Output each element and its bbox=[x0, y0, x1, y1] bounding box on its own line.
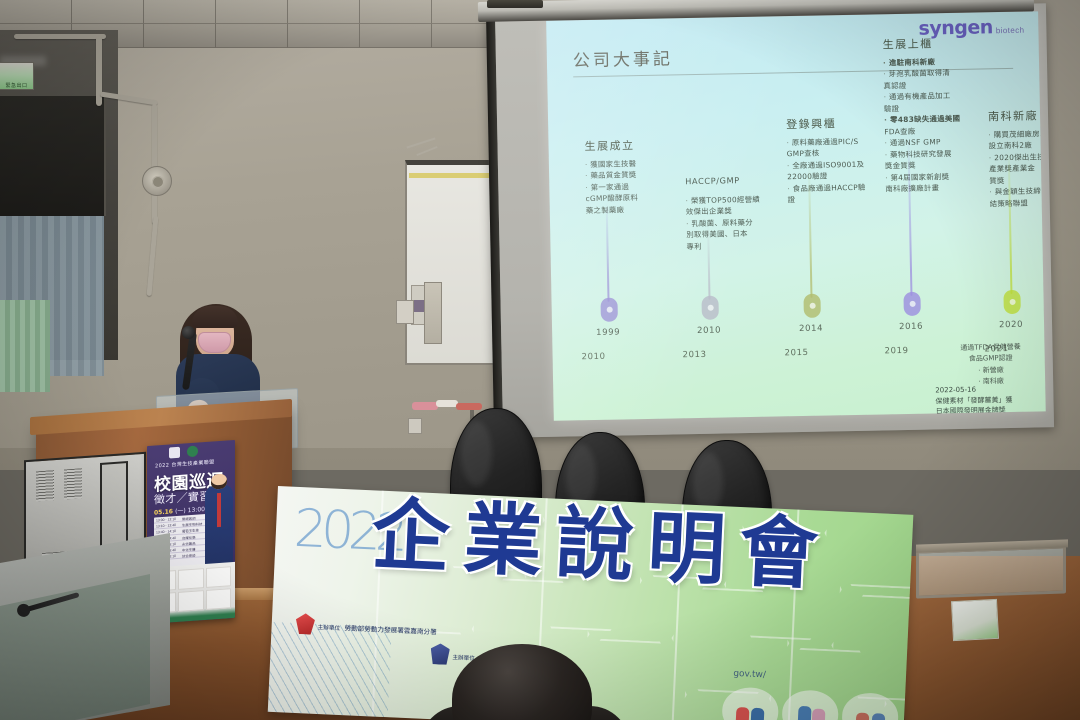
projected-slide: syngenbiotech 公司大事記 生展成立 獲國家生技醫 藥品質金質獎 第… bbox=[546, 11, 1046, 420]
timeline-year-bottom: 2010 bbox=[582, 352, 606, 362]
bullet: 專利 bbox=[686, 239, 761, 252]
timeline-column-1: 生展成立 獲國家生技醫 藥品質金質獎 第一家通過 cGMP醱酵原料 藥之製藥廠 bbox=[584, 137, 638, 216]
timeline-year-top: 2010 bbox=[697, 326, 721, 336]
bullet: 乳酸菌、原料藥分 bbox=[686, 216, 761, 229]
slide-title: 公司大事記 bbox=[573, 44, 673, 71]
bullet: 結策略聯盟 bbox=[990, 197, 1046, 210]
bullet: 與金穎生技締 bbox=[989, 186, 1045, 199]
slide-footer: 2022-05-16 保健素材「發酵薑黃」獲 日本國際發明展金牌獎 bbox=[935, 384, 1013, 417]
bullet: 食品廠通過HACCP驗 bbox=[787, 182, 865, 195]
presenter-fringe bbox=[192, 306, 238, 328]
face-mask bbox=[198, 332, 231, 353]
banner-url: gov.tw/ bbox=[733, 669, 766, 680]
timeline-year-top: 1999 bbox=[596, 327, 620, 337]
event-banner: 2022 企業說明會 主辦單位 勞動部勞動力發展署雲嘉南分署 主辦單位 中華醫事… bbox=[268, 486, 914, 720]
timeline-marker bbox=[903, 292, 920, 316]
ceiling-tile bbox=[72, 0, 144, 24]
bullet: 2020傑出生技 bbox=[989, 151, 1046, 164]
timeline-stem bbox=[606, 202, 610, 302]
timeline-column-4: 生展上櫃 進駐南科新廠 芽孢乳酸菌取得清 真認證 通過有機產品加工 驗證 零48… bbox=[883, 35, 962, 195]
bullet: 南科廠擴廠計畫 bbox=[885, 182, 961, 195]
wall-switch-plate[interactable] bbox=[396, 300, 414, 324]
timeline-marker bbox=[1003, 290, 1020, 314]
syngen-logo-sub: biotech bbox=[996, 26, 1025, 36]
bullet: 通過有機產品加工 bbox=[884, 90, 960, 103]
timeline-marker bbox=[600, 298, 617, 322]
photo-scene: 緊急出口 syngenbiotech 公司大事記 bbox=[0, 0, 1080, 720]
illustration-bubble bbox=[781, 689, 839, 720]
bullet: 證 bbox=[788, 193, 866, 206]
column-bullets: HACCP/GMP 榮獲TOP500經營績 效傑出企業獎 乳酸菌、原料藥分 別取… bbox=[685, 174, 761, 252]
column-heading: 生展成立 bbox=[584, 137, 637, 154]
bullet: 芽孢乳酸菌取得清 bbox=[883, 67, 959, 80]
timeline-column-5: 南科新廠 購買茂細廠房、 設立南科2廠 2020傑出生技 產業獎產業金 質獎 與… bbox=[988, 107, 1046, 209]
ceiling-tile bbox=[360, 0, 432, 24]
curtain-green-panel bbox=[0, 300, 50, 392]
ceiling-tile bbox=[360, 24, 432, 48]
column-heading: 南科新廠 bbox=[988, 107, 1046, 124]
illustration-bubble bbox=[841, 692, 899, 720]
timeline-marker bbox=[803, 294, 820, 318]
exit-sign-label: 緊急出口 bbox=[5, 82, 27, 89]
bullet: 購買茂細廠房、 bbox=[988, 128, 1045, 141]
bullet: 榮獲TOP500經營績 bbox=[686, 193, 761, 206]
bullet: 藥品質金質獎 bbox=[585, 170, 638, 182]
column-bullets: 進駐南科新廠 芽孢乳酸菌取得清 真認證 通過有機產品加工 驗證 零483缺失通過… bbox=[883, 56, 962, 195]
wall-fan-icon bbox=[142, 166, 172, 196]
bullet: 原料藥廠通過PIC/S bbox=[786, 136, 864, 149]
bullet: 藥物科技研究發展 bbox=[885, 148, 961, 161]
conduit-pipe bbox=[14, 34, 106, 39]
timeline-year-top: 2020 bbox=[999, 320, 1023, 330]
ceiling-tile bbox=[144, 0, 216, 24]
column-bullets: 購買茂細廠房、 設立南科2廠 2020傑出生技 產業獎產業金 質獎 與金穎生技締… bbox=[988, 128, 1045, 209]
microphone-icon bbox=[182, 326, 195, 339]
ceiling-tile bbox=[0, 0, 72, 24]
bullet: 獲國家生技醫 bbox=[585, 158, 638, 170]
alliance-logo-icon bbox=[187, 446, 198, 458]
ceiling-tile bbox=[288, 0, 360, 24]
leaflet bbox=[951, 599, 999, 641]
timeline-year-bottom: 2013 bbox=[682, 350, 706, 360]
timeline-note-2022: 通過TFDA保健營養 食品GMP認證 · 新營廠 · 南科廠 bbox=[930, 341, 1045, 387]
bullet: HACCP/GMP bbox=[685, 174, 760, 188]
bullet: 藥之製藥廠 bbox=[586, 204, 639, 216]
organizer-name: 勞動部勞動力發展署雲嘉南分署 bbox=[344, 624, 437, 636]
bullet: cGMP醱酵原料 bbox=[585, 193, 638, 205]
labor-ministry-logo-icon bbox=[295, 613, 315, 635]
ceiling-tile bbox=[144, 24, 216, 48]
timeline-year-bottom: 2015 bbox=[784, 348, 808, 358]
poster-logos bbox=[169, 446, 198, 459]
timeline-marker bbox=[701, 296, 718, 320]
column-heading: 生展上櫃 bbox=[883, 35, 959, 52]
timeline-year-top: 2016 bbox=[899, 322, 923, 332]
university-logo-icon bbox=[169, 447, 180, 459]
timeline-year-bottom: 2019 bbox=[884, 346, 908, 356]
poster-schedule-cell: 綜合座談 bbox=[180, 552, 198, 558]
timeline-year-top: 2014 bbox=[799, 324, 823, 334]
projection-screen: syngenbiotech 公司大事記 生展成立 獲國家生技醫 藥品質金質獎 第… bbox=[486, 3, 1054, 438]
doorway bbox=[0, 96, 106, 216]
exit-sign: 緊急出口 bbox=[0, 62, 34, 90]
ceiling-tile bbox=[216, 24, 288, 48]
column-heading: 登錄興櫃 bbox=[786, 115, 865, 132]
display-case bbox=[916, 545, 1066, 598]
column-bullets: 獲國家生技醫 藥品質金質獎 第一家通過 cGMP醱酵原料 藥之製藥廠 bbox=[585, 158, 639, 216]
timeline-column-2: HACCP/GMP 榮獲TOP500經營績 效傑出企業獎 乳酸菌、原料藥分 別取… bbox=[685, 169, 761, 252]
note-line: 食品GMP認證 bbox=[931, 352, 1046, 365]
university-logo-icon bbox=[430, 643, 450, 665]
ceiling-tile bbox=[216, 0, 288, 24]
conduit-pipe bbox=[152, 104, 157, 224]
banner-headline: 企業說明會 bbox=[370, 496, 833, 595]
bullet: 全廠通過ISO9001及 bbox=[787, 159, 865, 172]
wall-outlet-plate[interactable] bbox=[408, 418, 422, 434]
ceiling-projector bbox=[487, 0, 543, 8]
shelf-items bbox=[412, 400, 484, 414]
wall-poster-small bbox=[424, 282, 442, 344]
timeline-column-3: 登錄興櫃 原料藥廠通過PIC/S GMP查核 全廠通過ISO9001及 2200… bbox=[786, 115, 866, 206]
banner-hex bbox=[822, 486, 913, 590]
illustration-bubble bbox=[721, 686, 779, 720]
column-bullets: 原料藥廠通過PIC/S GMP查核 全廠通過ISO9001及 22000驗證 食… bbox=[786, 136, 866, 206]
ceiling-tile bbox=[288, 24, 360, 48]
organizer-role: 主辦單位 bbox=[317, 624, 340, 631]
bullet: 零483缺失通過美國 bbox=[884, 113, 960, 126]
